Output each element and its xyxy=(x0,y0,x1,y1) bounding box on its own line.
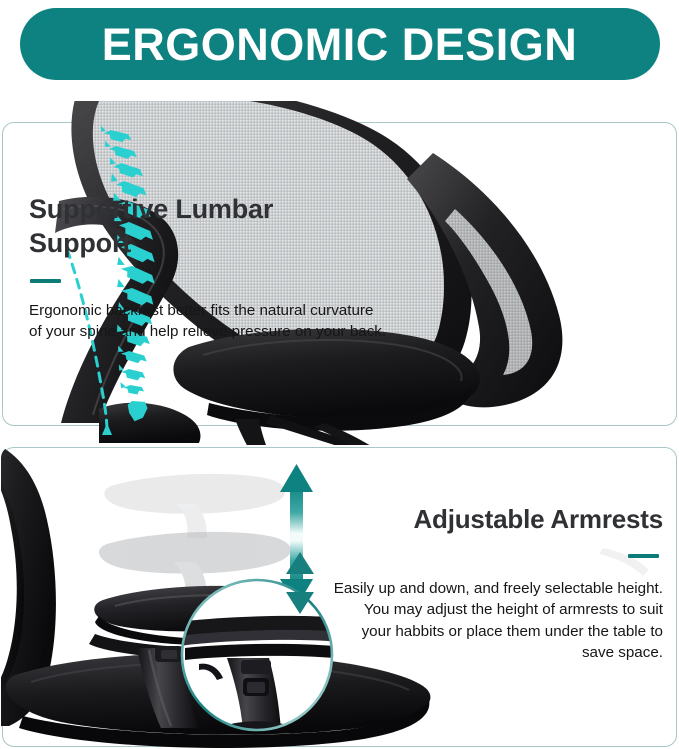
page-title: ERGONOMIC DESIGN xyxy=(102,22,578,67)
armrest-ghost-position-top xyxy=(104,474,285,538)
adjustable-armrests-body: Easily up and down, and freely selectabl… xyxy=(333,578,663,664)
armrest-height-button-face xyxy=(161,650,177,659)
lumbar-support-heading: Supportive LumbarSupport xyxy=(29,193,389,261)
arrow-head-up xyxy=(280,464,313,492)
heading-divider xyxy=(628,554,659,558)
lumbar-support-body: Ergonomic backrest better fits the natur… xyxy=(29,300,389,343)
heading-line-1: Supportive Lumbar xyxy=(29,194,273,224)
adjustable-armrests-heading: Adjustable Armrests xyxy=(333,503,663,536)
heading-divider xyxy=(30,279,61,283)
feature-panel-lumbar-support: Supportive LumbarSupport Ergonomic backr… xyxy=(2,122,677,426)
feature-panel-adjustable-armrests: Adjustable Armrests Easily up and down, … xyxy=(2,447,677,747)
header-banner-wrapper: ERGONOMIC DESIGN xyxy=(0,0,679,100)
heading-line-2: Support xyxy=(29,228,131,258)
header-banner: ERGONOMIC DESIGN xyxy=(20,8,660,80)
lumbar-support-text-block: Supportive LumbarSupport Ergonomic backr… xyxy=(29,193,389,343)
backrest-base-connector xyxy=(99,403,200,443)
adjustable-armrests-text-block: Adjustable Armrests Easily up and down, … xyxy=(333,503,663,664)
